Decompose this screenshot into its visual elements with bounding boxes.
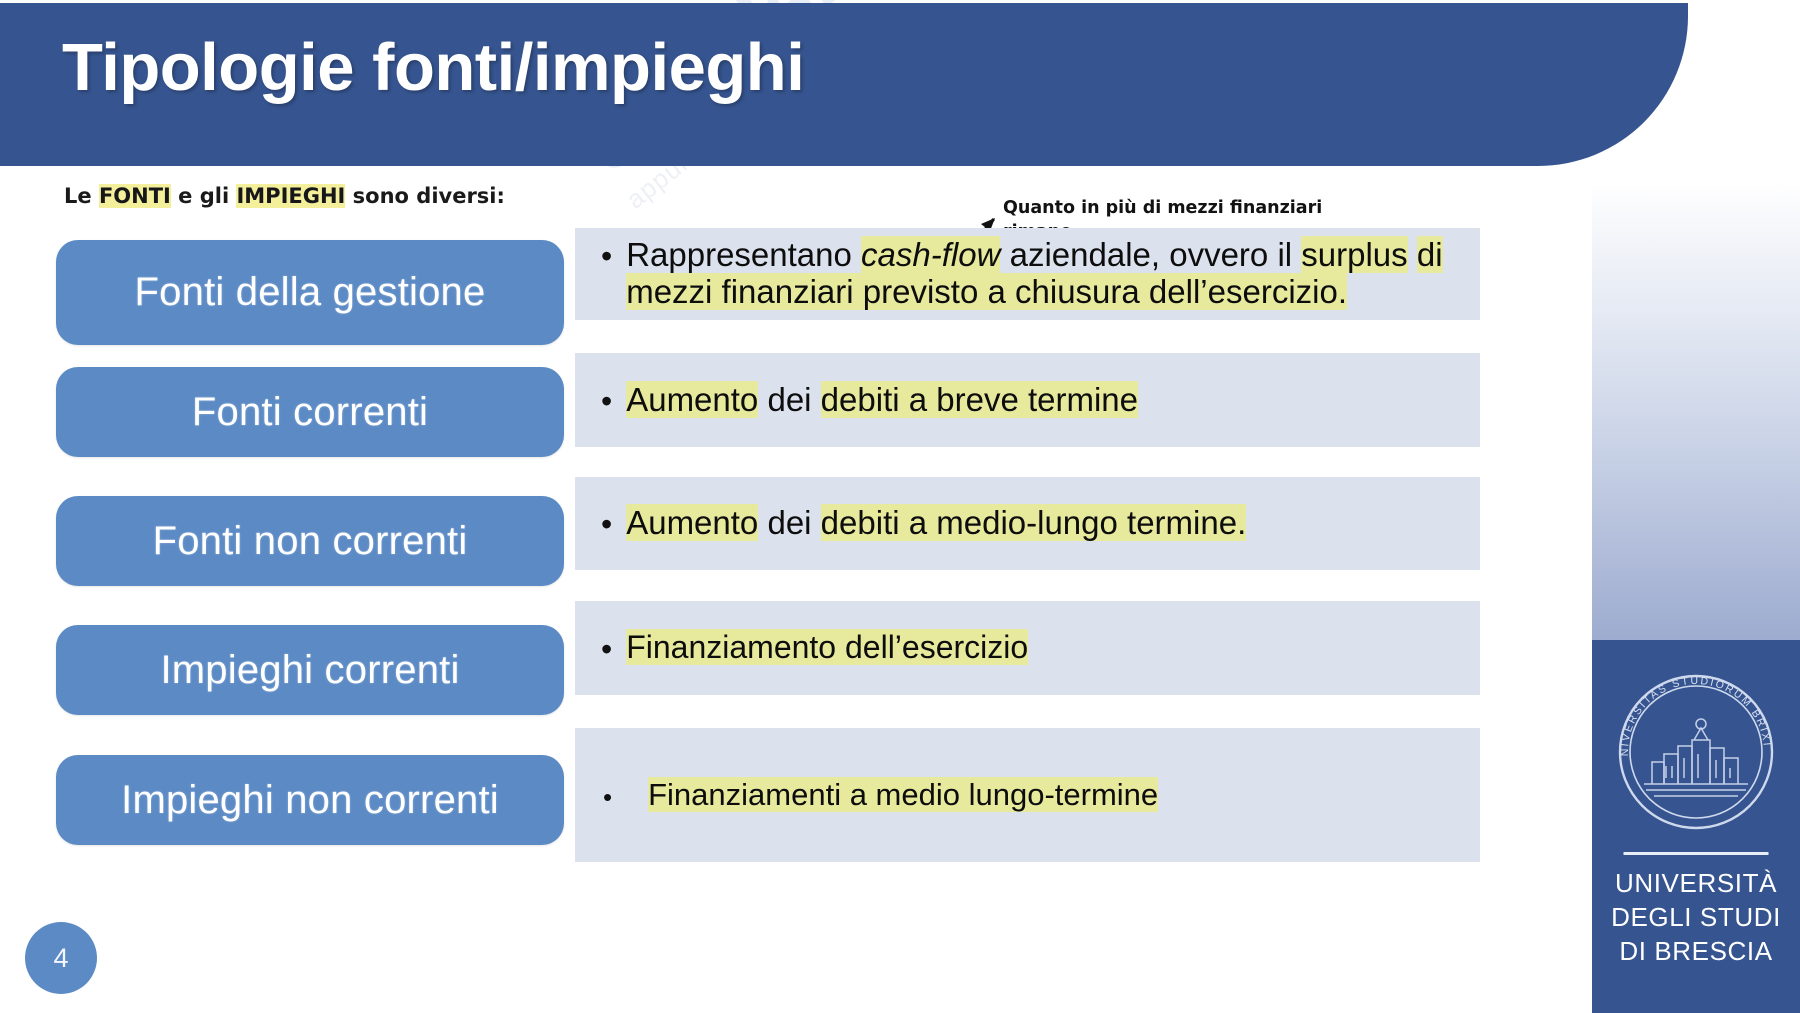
category-label-text: Fonti non correnti xyxy=(153,519,468,564)
intro-middle: e gli xyxy=(171,184,237,208)
text-run: dei xyxy=(758,381,820,418)
intro-highlight-fonti: FONTI xyxy=(99,184,171,208)
category-label-text: Impieghi correnti xyxy=(160,648,459,693)
text-run: Aumento xyxy=(626,504,758,541)
text-run: surplus xyxy=(1301,236,1407,273)
bullet-text: Finanziamenti a medio lungo-termine xyxy=(648,778,1158,813)
bullet-marker: • xyxy=(603,784,612,810)
category-label-text: Impieghi non correnti xyxy=(121,778,499,823)
intro-suffix: sono diversi: xyxy=(345,184,505,208)
slide: Skuola.net appunti della scuola Tipologi… xyxy=(0,0,1800,1013)
bullet-item: • Aumento dei debiti a medio-lungo termi… xyxy=(575,505,1262,542)
intro-prefix: Le xyxy=(64,184,99,208)
intro-text: Le FONTI e gli IMPIEGHI sono diversi: xyxy=(64,184,505,208)
category-label-box[interactable]: Impieghi non correnti xyxy=(56,755,564,845)
bullet-marker: • xyxy=(601,240,612,272)
bullet-item: • Aumento dei debiti a breve termine xyxy=(575,382,1154,419)
university-seal-icon: UNIVERSITAS STUDIORUM BRIXIAE xyxy=(1606,662,1786,842)
bullet-item: • Finanziamenti a medio lungo-termine xyxy=(575,778,1174,813)
category-label-box[interactable]: Fonti correnti xyxy=(56,367,564,457)
page-title: Tipologie fonti/impieghi xyxy=(62,29,804,106)
content-box: • Finanziamento dell’esercizio xyxy=(575,601,1480,695)
text-run: Finanziamenti a medio lungo-termine xyxy=(648,777,1158,812)
content-box: • Rappresentano cash-flow aziendale, ovv… xyxy=(575,228,1480,320)
intro-highlight-impieghi: IMPIEGHI xyxy=(236,184,345,208)
text-run: debiti a medio-lungo termine. xyxy=(821,504,1247,541)
content-box: • Finanziamenti a medio lungo-termine xyxy=(575,728,1480,862)
category-label-box[interactable]: Fonti della gestione xyxy=(56,240,564,345)
logo-line-3: DI BRESCIA xyxy=(1592,936,1800,967)
header-banner: Tipologie fonti/impieghi xyxy=(0,3,1688,166)
text-run: Aumento xyxy=(626,381,758,418)
logo-line-1: UNIVERSITÀ xyxy=(1592,868,1800,899)
bullet-text: Aumento dei debiti a breve termine xyxy=(626,382,1138,419)
text-run: Finanziamento dell’esercizio xyxy=(626,629,1028,665)
content-box: • Aumento dei debiti a medio-lungo termi… xyxy=(575,477,1480,570)
bullet-item: • Rappresentano cash-flow aziendale, ovv… xyxy=(575,237,1480,311)
bullet-marker: • xyxy=(601,508,612,540)
category-label-text: Fonti della gestione xyxy=(135,270,486,315)
bullet-text: Rappresentano cash-flow aziendale, ovver… xyxy=(626,237,1464,311)
category-label-box[interactable]: Fonti non correnti xyxy=(56,496,564,586)
bullet-marker: • xyxy=(601,633,612,665)
text-run: aziendale, ovvero il xyxy=(1000,236,1301,273)
text-run: debiti a breve termine xyxy=(821,381,1138,418)
bullet-text: Aumento dei debiti a medio-lungo termine… xyxy=(626,505,1246,542)
text-run: dei xyxy=(758,504,820,541)
bullet-item: • Finanziamento dell’esercizio xyxy=(575,630,1044,666)
content-box: • Aumento dei debiti a breve termine xyxy=(575,353,1480,447)
bullet-text: Finanziamento dell’esercizio xyxy=(626,630,1028,666)
text-run xyxy=(1408,236,1417,273)
category-label-box[interactable]: Impieghi correnti xyxy=(56,625,564,715)
slide-number-text: 4 xyxy=(53,943,68,974)
bullet-marker: • xyxy=(601,385,612,417)
slide-number-badge: 4 xyxy=(25,922,97,994)
logo-line-2: DEGLI STUDI xyxy=(1592,902,1800,933)
logo-divider xyxy=(1624,852,1769,855)
category-label-text: Fonti correnti xyxy=(192,390,428,435)
university-logo-block: UNIVERSITAS STUDIORUM BRIXIAE UNIVERSITÀ… xyxy=(1592,640,1800,1013)
text-run: cash-flow xyxy=(861,236,1000,273)
text-run: Rappresentano xyxy=(626,236,861,273)
